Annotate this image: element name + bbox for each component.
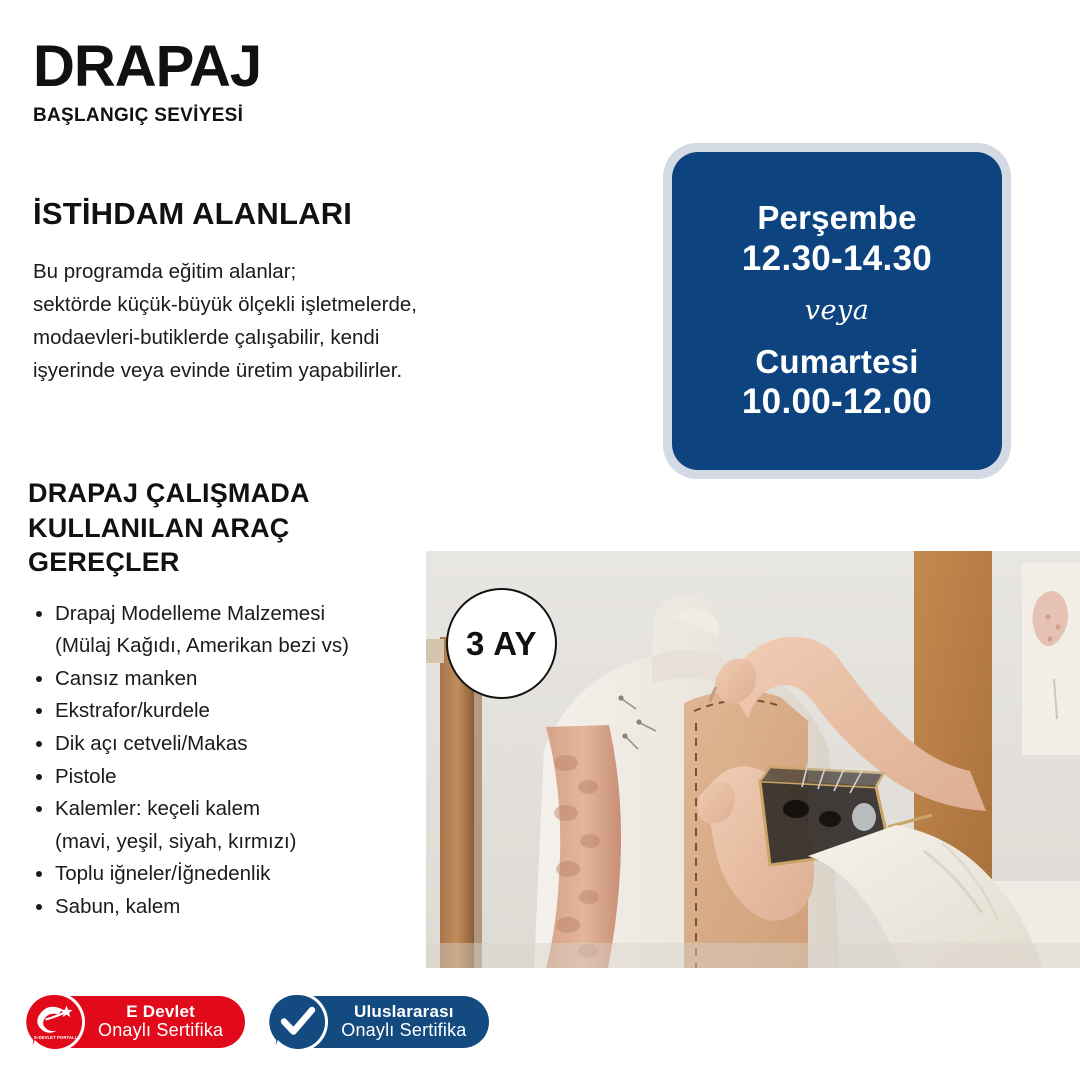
list-item: Drapaj Modelleme Malzemesi (Mülaj Kağıdı… [28,598,448,663]
employment-body: Bu programda eğitim alanlar; sektörde kü… [33,255,593,388]
schedule-time-1: 12.30-14.30 [742,238,932,280]
badge-text: Uluslararası Onaylı Sertifika [341,1003,466,1041]
list-item-text-cont: (mavi, yeşil, siyah, kırmızı) [55,826,448,859]
schedule-card: Perşembe 12.30-14.30 veya Cumartesi 10.0… [672,152,1002,470]
list-item-text: Pistole [55,765,117,788]
list-item: Pistole [28,761,448,794]
badge-uluslararasi[interactable]: Uluslararası Onaylı Sertifika [269,996,488,1048]
badge-text: E Devlet Onaylı Sertifika [98,1003,223,1041]
badge-line-2: Onaylı Sertifika [341,1021,466,1040]
tools-heading: DRAPAJ ÇALIŞMADA KULLANILAN ARAÇ GEREÇLE… [28,476,448,580]
employment-line-2: sektörde küçük-büyük ölçekli işletmelerd… [33,288,593,321]
badge-line-1: Uluslararası [341,1003,466,1021]
check-badge-icon [265,989,331,1055]
list-item: Dik açı cetveli/Makas [28,728,448,761]
list-item-text: Sabun, kalem [55,895,180,918]
certificate-badges: E-DEVLET PORTALI E Devlet Onaylı Sertifi… [26,996,489,1048]
list-item-text: Dik açı cetveli/Makas [55,732,248,755]
e-devlet-logo-icon: E-DEVLET PORTALI [22,989,88,1055]
employment-heading: İSTİHDAM ALANLARI [33,196,593,233]
page-subtitle: BAŞLANGIÇ SEVİYESİ [33,105,261,127]
schedule-day-2: Cumartesi [755,343,918,382]
page-title: DRAPAJ [33,38,261,96]
list-item: Kalemler: keçeli kalem (mavi, yeşil, siy… [28,793,448,858]
schedule-time-2: 10.00-12.00 [742,381,932,423]
list-item-text: Toplu iğneler/İğnedenlik [55,862,270,885]
schedule-separator: veya [805,295,870,326]
list-item-text: Kalemler: keçeli kalem [55,797,260,820]
list-item: Sabun, kalem [28,891,448,924]
badge-e-devlet[interactable]: E-DEVLET PORTALI E Devlet Onaylı Sertifi… [26,996,245,1048]
course-poster: DRAPAJ BAŞLANGIÇ SEVİYESİ İSTİHDAM ALANL… [0,0,1080,1080]
employment-line-1: Bu programda eğitim alanlar; [33,255,593,288]
list-item-text: Drapaj Modelleme Malzemesi [55,602,325,625]
list-item: Cansız manken [28,663,448,696]
schedule-day-1: Perşembe [757,199,916,238]
title-block: DRAPAJ BAŞLANGIÇ SEVİYESİ [33,38,261,127]
list-item: Toplu iğneler/İğnedenlik [28,858,448,891]
list-item-text: Cansız manken [55,667,197,690]
list-item-text: Ekstrafor/kurdele [55,699,210,722]
e-devlet-logo-caption: E-DEVLET PORTALI [34,1035,76,1040]
tools-list: Drapaj Modelleme Malzemesi (Mülaj Kağıdı… [28,598,448,924]
duration-badge: 3 AY [446,588,557,699]
employment-line-4: işyerinde veya evinde üretim yapabilirle… [33,354,593,387]
list-item-text-cont: (Mülaj Kağıdı, Amerikan bezi vs) [55,630,448,663]
list-item: Ekstrafor/kurdele [28,695,448,728]
tools-section: DRAPAJ ÇALIŞMADA KULLANILAN ARAÇ GEREÇLE… [28,476,448,924]
badge-line-2: Onaylı Sertifika [98,1021,223,1040]
employment-section: İSTİHDAM ALANLARI Bu programda eğitim al… [33,196,593,387]
employment-line-3: modaevleri-butiklerde çalışabilir, kendi [33,321,593,354]
schedule-card-frame: Perşembe 12.30-14.30 veya Cumartesi 10.0… [663,143,1011,479]
badge-line-1: E Devlet [98,1003,223,1021]
